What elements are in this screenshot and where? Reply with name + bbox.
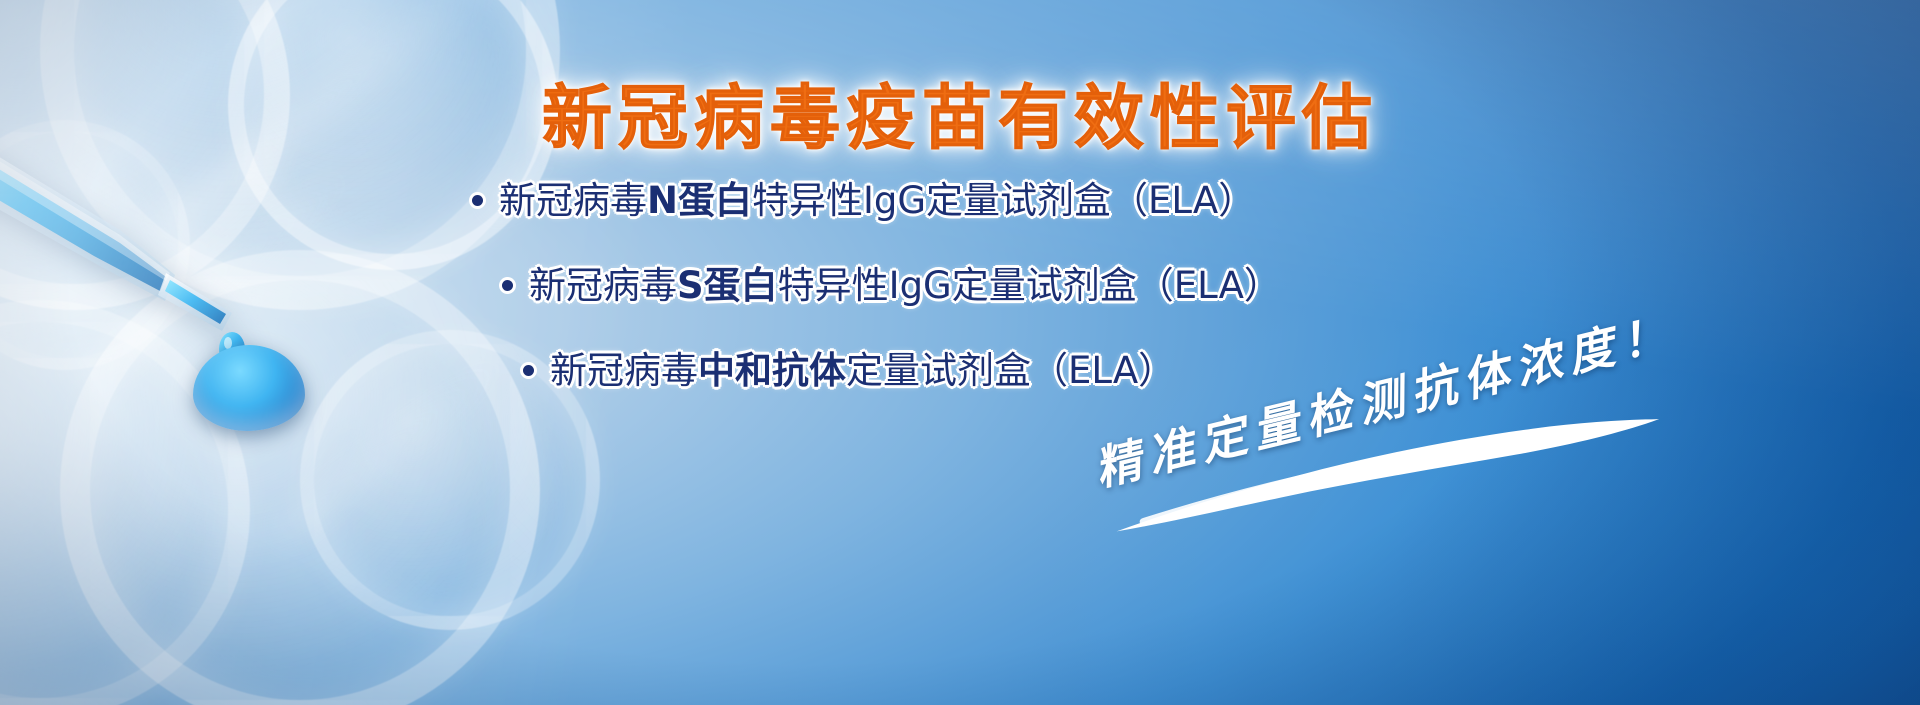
bullet-dot-icon bbox=[523, 365, 534, 376]
vaccine-efficacy-banner: 新冠病毒疫苗有效性评估 新冠病毒N蛋白特异性IgG定量试剂盒（ELA） 新冠病毒… bbox=[0, 0, 1920, 705]
bullet-dot-icon bbox=[502, 280, 513, 291]
list-item-prefix: 新冠病毒 bbox=[550, 352, 698, 389]
list-item-prefix: 新冠病毒 bbox=[529, 267, 677, 304]
list-item-prefix: 新冠病毒 bbox=[499, 182, 647, 219]
list-item-middle: 特异性IgG定量试剂盒 bbox=[778, 267, 1137, 304]
list-item: 新冠病毒中和抗体定量试剂盒（ELA） bbox=[523, 352, 1175, 389]
list-item-middle: 定量试剂盒 bbox=[846, 352, 1031, 389]
list-item-emphasis: N蛋白 bbox=[647, 182, 752, 219]
list-item-emphasis: S蛋白 bbox=[677, 267, 778, 304]
bullet-dot-icon bbox=[472, 195, 483, 206]
list-item: 新冠病毒S蛋白特异性IgG定量试剂盒（ELA） bbox=[502, 267, 1281, 304]
tagline-block: 精准定量检测抗体浓度！ bbox=[1095, 398, 1795, 588]
page-title: 新冠病毒疫苗有效性评估 bbox=[0, 62, 1920, 163]
list-item-emphasis: 中和抗体 bbox=[698, 352, 846, 389]
list-item-suffix: （ELA） bbox=[1137, 267, 1281, 304]
list-item-middle: 特异性IgG定量试剂盒 bbox=[752, 182, 1111, 219]
list-item: 新冠病毒N蛋白特异性IgG定量试剂盒（ELA） bbox=[472, 182, 1255, 219]
list-item-suffix: （ELA） bbox=[1111, 182, 1255, 219]
list-item-suffix: （ELA） bbox=[1031, 352, 1175, 389]
